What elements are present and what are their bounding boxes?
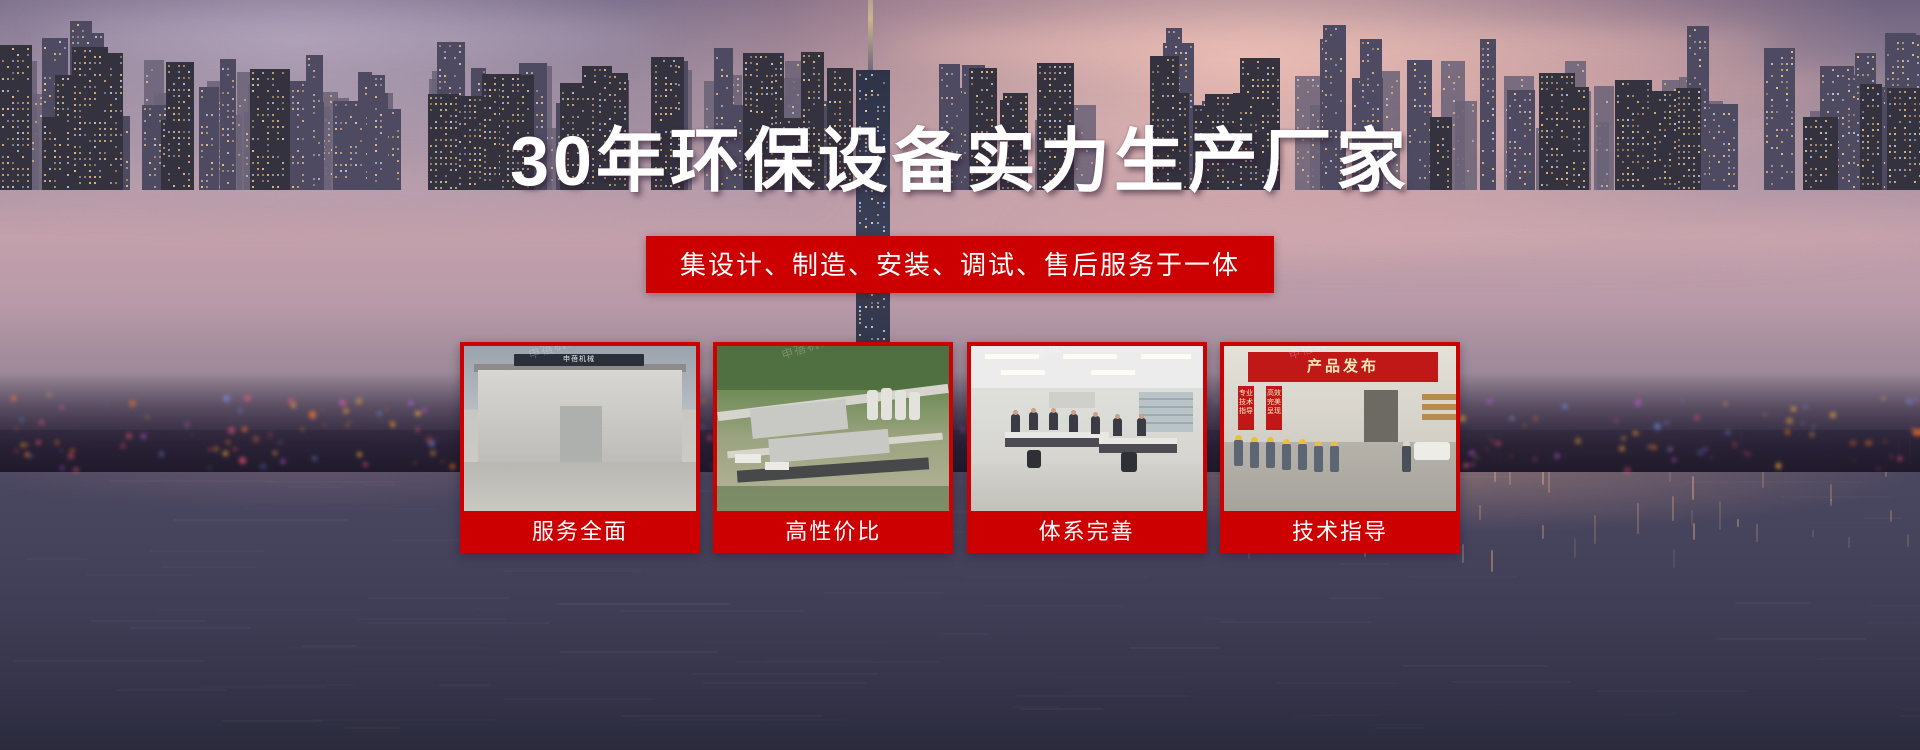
page-title: 30年环保设备实力生产厂家 [0,105,1920,206]
banner-content: 30年环保设备实力生产厂家 集设计、制造、安装、调试、售后服务于一体 申蓓机械 … [0,0,1920,750]
subtitle-badge: 集设计、制造、安装、调试、售后服务于一体 [646,236,1274,293]
feature-card-caption: 体系完善 [971,511,1203,553]
company-office-building-staff-photo: 申蓓机械 申蓓机械 [464,346,696,511]
hero-banner: 30年环保设备实力生产厂家 集设计、制造、安装、调试、售后服务于一体 申蓓机械 … [0,0,1920,750]
feature-card-list: 申蓓机械 申蓓机械 服务全面 [460,342,1460,553]
subtitle-text: 集设计、制造、安装、调试、售后服务于一体 [680,245,1240,282]
feature-card[interactable]: 申蓓机械 体系完善 [967,342,1207,553]
workshop-banner: 产品发布 [1248,352,1438,382]
feature-card[interactable]: 申蓓机械 高性价比 [713,342,953,553]
side-banner-left: 专业 技术指导 [1238,386,1254,430]
workshop-workers-photo: 产品发布 专业 技术指导 高效 完美呈现 [1224,346,1456,511]
feature-card[interactable]: 申蓓机械 申蓓机械 服务全面 [460,342,700,553]
building-sign-label: 申蓓机械 [514,354,644,366]
feature-card[interactable]: 产品发布 专业 技术指导 高效 完美呈现 [1220,342,1460,553]
aerial-factory-plant-photo: 申蓓机械 [717,346,949,511]
side-banner-right: 高效 完美呈现 [1266,386,1282,430]
building-sign: 申蓓机械 [514,354,644,366]
feature-card-caption: 技术指导 [1224,511,1456,553]
workshop-banner-text: 产品发布 [1248,352,1438,382]
feature-card-caption: 高性价比 [717,511,949,553]
office-interior-team-photo: 申蓓机械 [971,346,1203,511]
feature-card-caption: 服务全面 [464,511,696,553]
